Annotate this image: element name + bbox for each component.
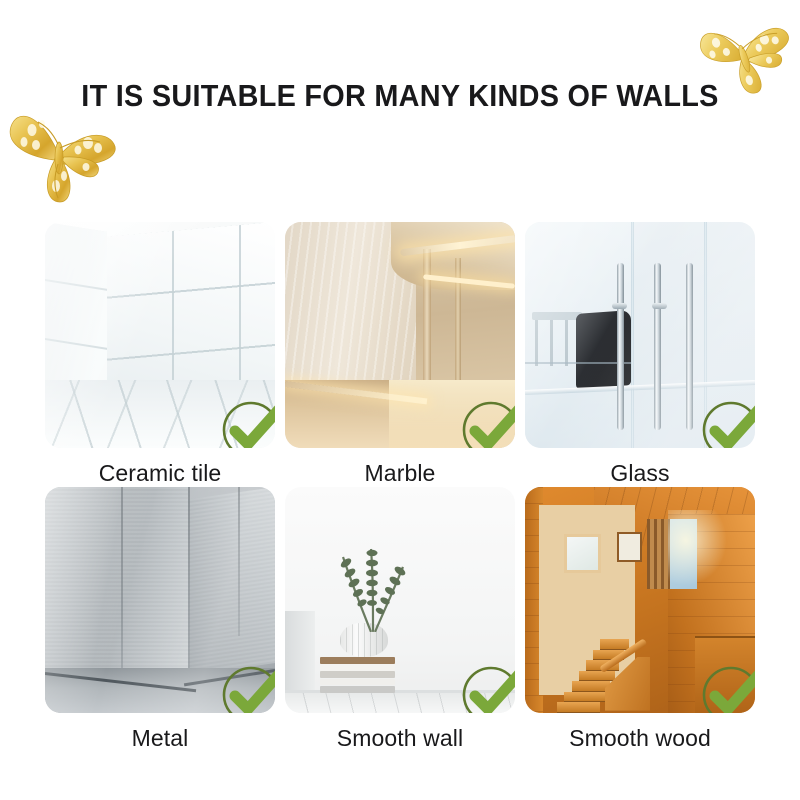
stair-step xyxy=(600,639,629,650)
surface-card-smooth-wall[interactable]: Smooth wall xyxy=(285,487,515,752)
wooden-staircase xyxy=(557,595,677,713)
stair-step xyxy=(572,681,610,692)
surface-card-marble[interactable]: Marble xyxy=(285,222,515,487)
surface-image-smooth-wood xyxy=(525,487,755,713)
book xyxy=(320,671,396,678)
check-mark-icon xyxy=(695,390,755,448)
surface-image-metal xyxy=(45,487,275,713)
book xyxy=(320,679,396,686)
surface-label-marble: Marble xyxy=(285,448,515,487)
book xyxy=(320,686,396,693)
check-mark-icon xyxy=(695,655,755,713)
surface-label-smooth-wall: Smooth wall xyxy=(285,713,515,752)
surface-label-ceramic-tile: Ceramic tile xyxy=(45,448,275,487)
marble-pillar xyxy=(423,249,431,394)
check-mark-icon xyxy=(215,655,275,713)
fern-plant-icon xyxy=(326,537,418,632)
infographic-page: IT IS SUITABLE FOR MANY KINDS OF WALLS xyxy=(0,0,800,800)
surface-card-smooth-wood[interactable]: Smooth wood xyxy=(525,487,755,752)
surface-label-metal: Metal xyxy=(45,713,275,752)
butterfly-decoration-left xyxy=(2,98,124,206)
surface-label-smooth-wood: Smooth wood xyxy=(525,713,755,752)
check-mark-icon xyxy=(455,655,515,713)
framed-picture xyxy=(617,532,642,561)
surface-grid: Ceramic tile xyxy=(45,222,755,752)
page-title: IT IS SUITABLE FOR MANY KINDS OF WALLS xyxy=(28,78,772,114)
book xyxy=(320,657,396,664)
check-mark-icon xyxy=(455,390,515,448)
surface-image-marble xyxy=(285,222,515,448)
book-stack xyxy=(320,657,396,693)
wood-small-window xyxy=(564,534,601,572)
stair-step xyxy=(564,692,605,703)
surface-label-glass: Glass xyxy=(525,448,755,487)
surface-image-ceramic-tile xyxy=(45,222,275,448)
surface-card-ceramic-tile[interactable]: Ceramic tile xyxy=(45,222,275,487)
surface-image-glass xyxy=(525,222,755,448)
check-mark-icon xyxy=(215,390,275,448)
smooth-wall-side-panel xyxy=(285,611,315,692)
stair-step xyxy=(579,671,615,682)
stair-step xyxy=(557,702,600,713)
surface-card-metal[interactable]: Metal xyxy=(45,487,275,752)
surface-image-smooth-wall xyxy=(285,487,515,713)
book xyxy=(320,664,396,671)
surface-card-glass[interactable]: Glass xyxy=(525,222,755,487)
window-light-beam xyxy=(668,510,728,587)
